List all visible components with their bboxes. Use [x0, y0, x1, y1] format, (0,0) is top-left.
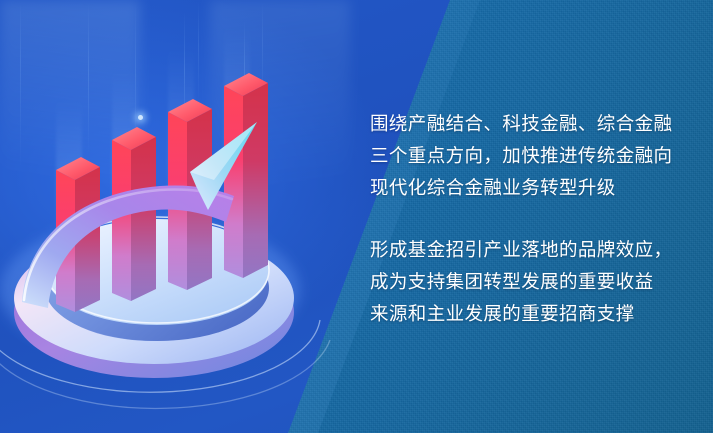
paragraph-2: 形成基金招引产业落地的品牌效应， 成为支持集团转型发展的重要收益 来源和主业发展…: [370, 234, 690, 330]
paragraph-2-line-2: 成为支持集团转型发展的重要收益: [370, 271, 654, 292]
growth-chart-illustration: [0, 40, 330, 400]
paragraph-1-line-1: 围绕产融结合、科技金融、综合金融: [370, 113, 672, 134]
text-block: 围绕产融结合、科技金融、综合金融 三个重点方向，加快推进传统金融向 现代化综合金…: [370, 108, 690, 330]
paragraph-1-line-3: 现代化综合金融业务转型升级: [370, 177, 616, 198]
paragraph-2-line-1: 形成基金招引产业落地的品牌效应，: [370, 239, 672, 260]
paragraph-2-line-3: 来源和主业发展的重要招商支撑: [370, 303, 635, 324]
paragraph-1-line-2: 三个重点方向，加快推进传统金融向: [370, 145, 672, 166]
paragraph-1: 围绕产融结合、科技金融、综合金融 三个重点方向，加快推进传统金融向 现代化综合金…: [370, 108, 690, 204]
slide-canvas: 围绕产融结合、科技金融、综合金融 三个重点方向，加快推进传统金融向 现代化综合金…: [0, 0, 713, 433]
bar-4: [224, 73, 268, 278]
